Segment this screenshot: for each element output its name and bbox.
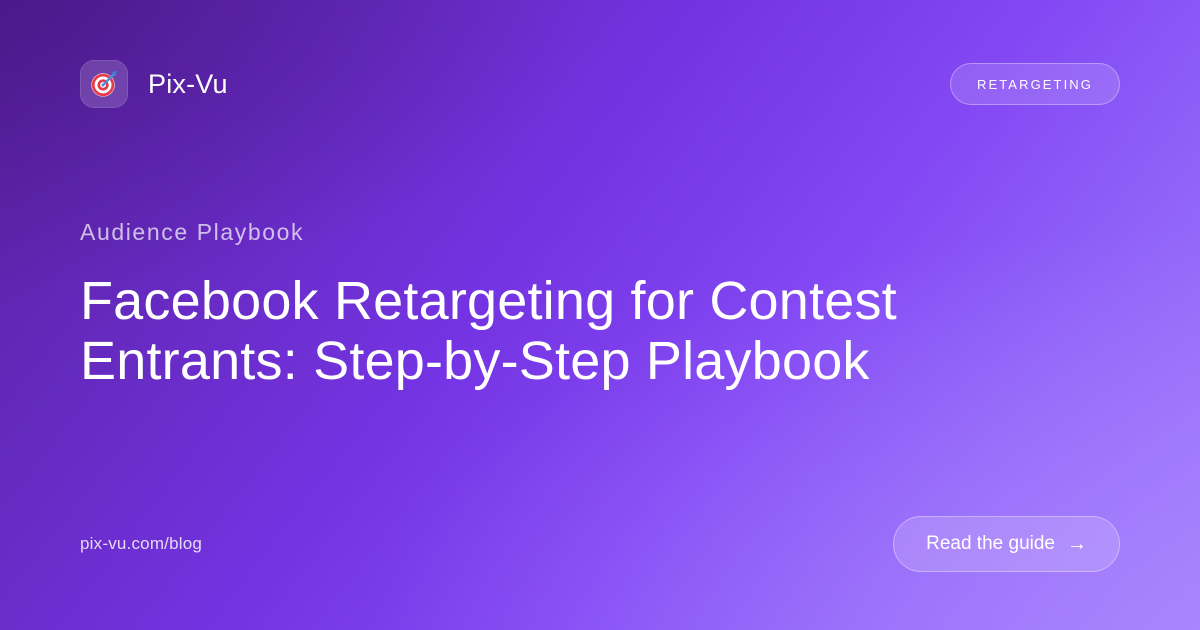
card-content: Pix-Vu RETARGETING Audience Playbook Fac…	[0, 0, 1200, 630]
brand-lockup[interactable]: Pix-Vu	[80, 60, 228, 108]
brand-logo-tile	[80, 60, 128, 108]
social-share-card: Pix-Vu RETARGETING Audience Playbook Fac…	[0, 0, 1200, 630]
eyebrow-label: Audience Playbook	[80, 219, 1120, 246]
site-url: pix-vu.com/blog	[80, 534, 202, 554]
card-main: Audience Playbook Facebook Retargeting f…	[80, 108, 1120, 516]
page-title: Facebook Retargeting for Contest Entrant…	[80, 272, 980, 391]
brand-name: Pix-Vu	[148, 71, 228, 98]
card-header: Pix-Vu RETARGETING	[80, 60, 1120, 108]
category-badge[interactable]: RETARGETING	[950, 63, 1120, 105]
card-footer: pix-vu.com/blog Read the guide →	[80, 516, 1120, 572]
cta-label: Read the guide	[926, 533, 1055, 555]
read-the-guide-button[interactable]: Read the guide →	[893, 516, 1120, 572]
target-dart-icon	[89, 69, 119, 99]
arrow-right-icon: →	[1067, 534, 1087, 554]
